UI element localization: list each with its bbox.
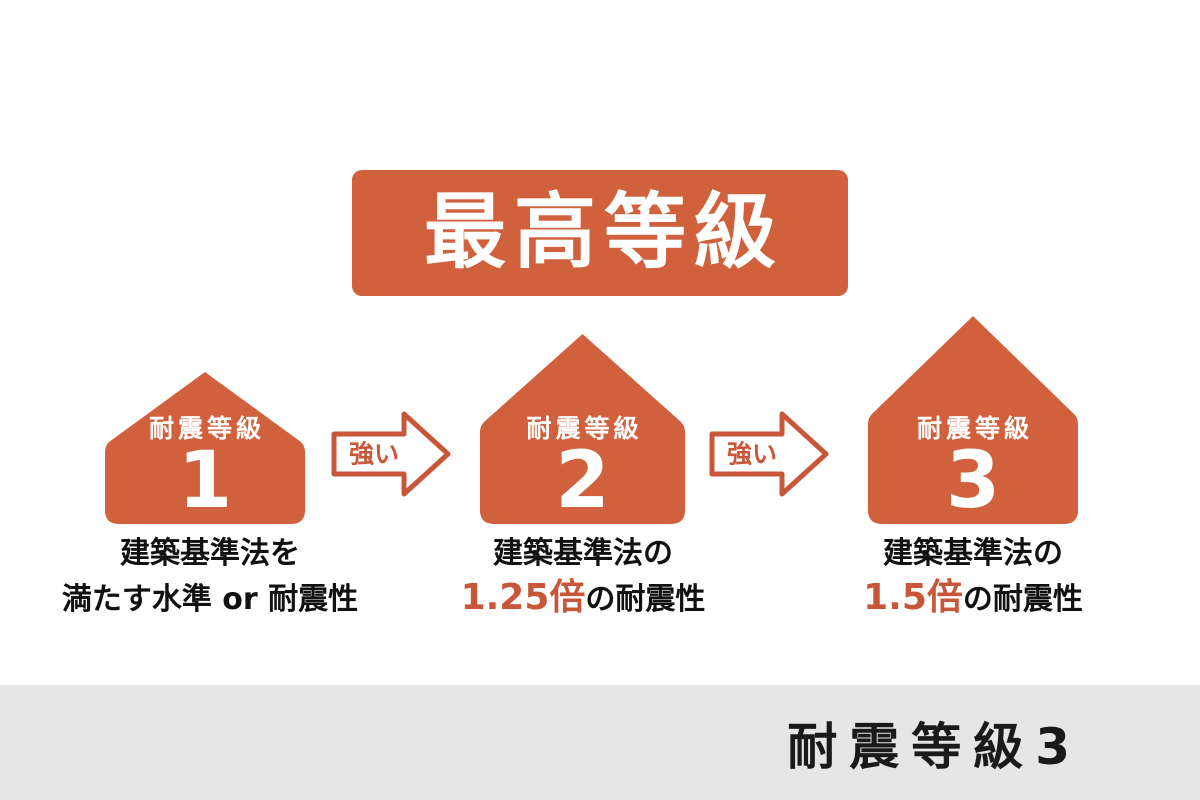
- arrow-stronger-1: 強い: [330, 408, 452, 500]
- title-badge-label: 最高等級: [416, 192, 784, 274]
- caption-grade-3-line2: 1.5倍の耐震性: [828, 574, 1118, 622]
- caption-grade-1-line2: 満たす水準 or 耐震性: [20, 574, 400, 622]
- seismic-grade-infographic: 最高等級 耐震等級 1 強い 耐震等級 2: [0, 0, 1200, 800]
- house-grade-1: 耐震等級 1: [105, 372, 305, 524]
- caption-grade-3-line2-highlight: 1.5倍: [863, 577, 963, 618]
- caption-grade-3-line2-suffix: の耐震性: [963, 582, 1083, 617]
- caption-grade-1-line2-prefix: 満たす水準 or 耐震性: [62, 582, 358, 617]
- house-grade-3-labels: 耐震等級 3: [868, 415, 1078, 518]
- caption-grade-2: 建築基準法の 1.25倍の耐震性: [438, 534, 728, 621]
- caption-grade-1-line1: 建築基準法を: [20, 534, 400, 574]
- house-grade-1-number: 1: [178, 445, 232, 518]
- arrow-stronger-2-label: 強い: [716, 442, 788, 467]
- caption-grade-2-line1: 建築基準法の: [438, 534, 728, 574]
- arrow-stronger-1-label: 強い: [338, 442, 410, 467]
- house-grade-2-number: 2: [555, 445, 609, 518]
- caption-grade-2-line2-highlight: 1.25倍: [461, 577, 586, 618]
- house-grade-2-labels: 耐震等級 2: [480, 415, 685, 518]
- caption-grade-2-line2-suffix: の耐震性: [585, 582, 705, 617]
- footer-title: 耐震等級3: [775, 707, 1082, 779]
- house-grade-1-labels: 耐震等級 1: [105, 415, 305, 518]
- house-grade-3-number: 3: [946, 445, 1000, 518]
- arrow-stronger-2: 強い: [708, 408, 830, 500]
- footer-bar: 耐震等級3: [0, 685, 1200, 800]
- caption-grade-3-line1: 建築基準法の: [828, 534, 1118, 574]
- caption-grade-3: 建築基準法の 1.5倍の耐震性: [828, 534, 1118, 621]
- house-grade-3: 耐震等級 3: [868, 316, 1078, 524]
- house-grade-2: 耐震等級 2: [480, 334, 685, 524]
- title-badge: 最高等級: [352, 170, 848, 296]
- caption-grade-2-line2: 1.25倍の耐震性: [438, 574, 728, 622]
- caption-grade-1: 建築基準法を 満たす水準 or 耐震性: [20, 534, 400, 621]
